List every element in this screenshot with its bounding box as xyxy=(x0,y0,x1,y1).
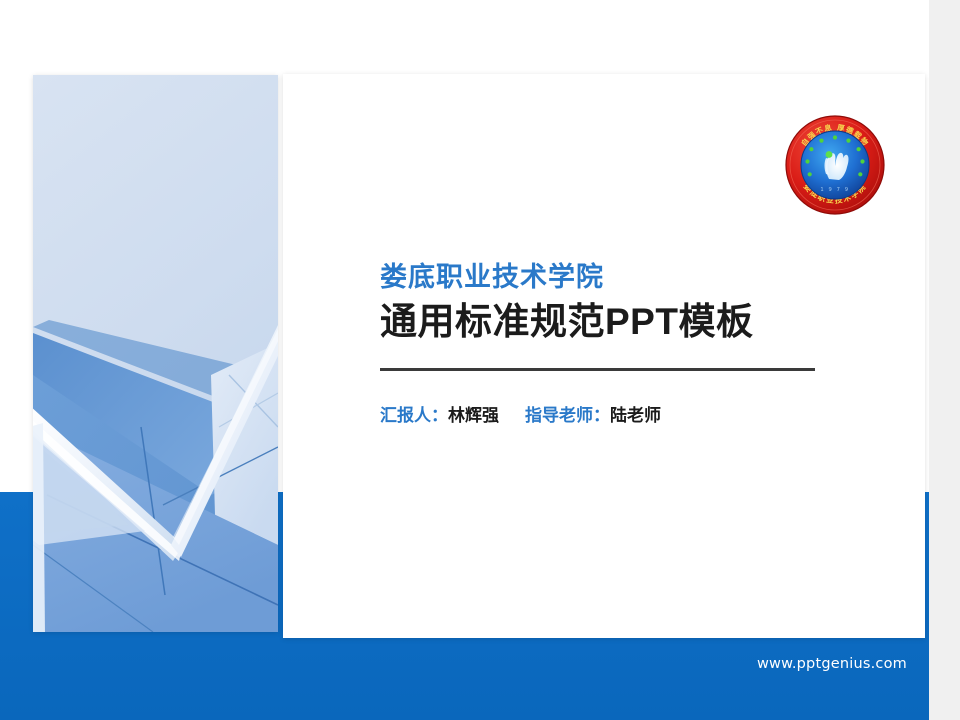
footer-website-url: www.pptgenius.com xyxy=(757,656,907,672)
reporter-label: 汇报人： xyxy=(380,406,448,425)
page-title: 通用标准规范PPT模板 xyxy=(380,301,850,342)
reporter-name: 林辉强 xyxy=(448,406,499,425)
school-name: 娄底职业技术学院 xyxy=(380,262,850,293)
slide-surface: 自强不息 厚德载物 娄底职业技术学院 xyxy=(0,0,929,720)
advisor-name: 陆老师 xyxy=(610,406,661,425)
advisor-label: 指导老师： xyxy=(525,406,610,425)
slide-root: 自强不息 厚德载物 娄底职业技术学院 xyxy=(0,0,960,720)
crest-year-text: 1 9 7 9 xyxy=(820,187,849,193)
crest-icon: 自强不息 厚德载物 娄底职业技术学院 xyxy=(782,112,888,218)
architecture-photo-panel xyxy=(33,75,278,632)
architecture-photo-illustration xyxy=(33,75,278,632)
title-text-block: 娄底职业技术学院 通用标准规范PPT模板 汇报人：林辉强指导老师：陆老师 xyxy=(380,262,850,426)
presenter-line: 汇报人：林辉强指导老师：陆老师 xyxy=(380,401,850,426)
title-divider xyxy=(380,368,815,371)
school-crest-logo: 自强不息 厚德载物 娄底职业技术学院 xyxy=(782,112,888,218)
